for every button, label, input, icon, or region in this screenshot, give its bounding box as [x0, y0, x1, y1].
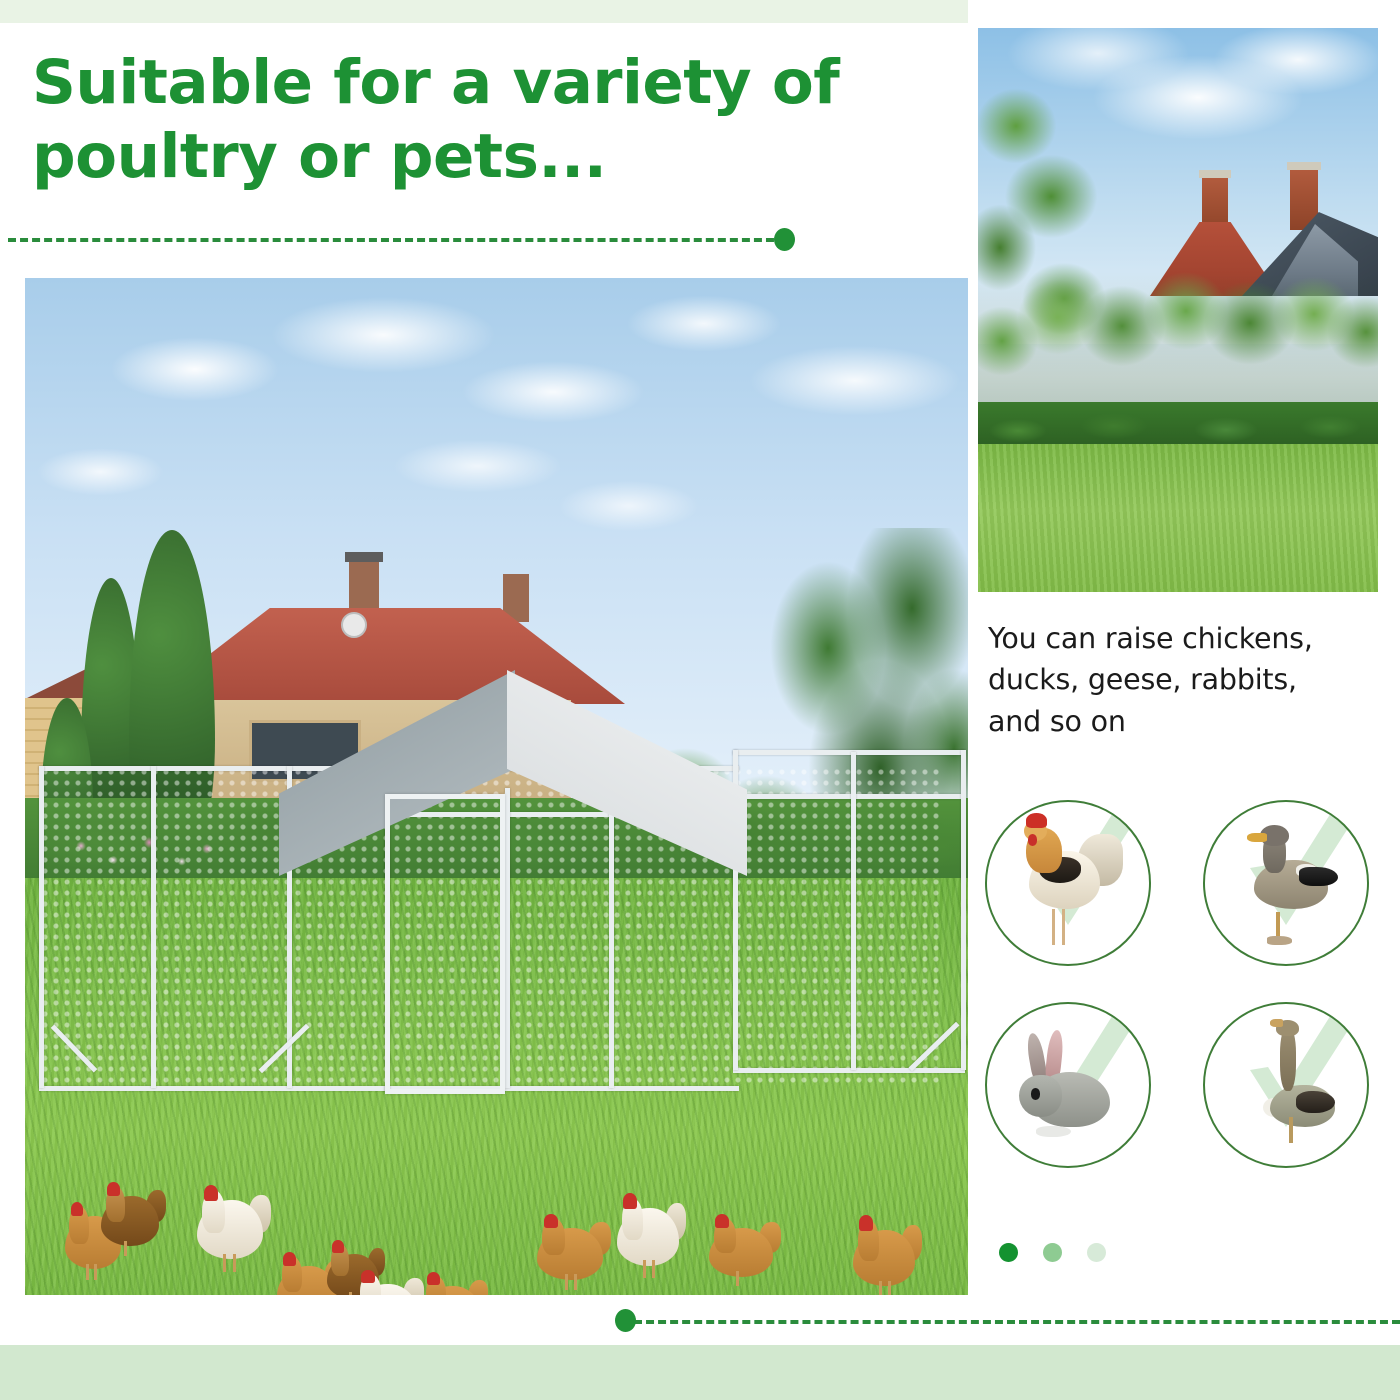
caption-line-1: You can raise chickens, — [988, 618, 1380, 659]
headline-line-1: Suitable for a variety of — [32, 46, 932, 120]
main-product-photo — [25, 278, 968, 1295]
caption-line-2: ducks, geese, rabbits, — [988, 659, 1380, 700]
headline-line-2: poultry or pets... — [32, 120, 932, 194]
top-dashed-divider — [8, 238, 786, 242]
chicken — [101, 1186, 159, 1256]
suitable-animals-grid — [985, 800, 1385, 1200]
chicken — [355, 1274, 417, 1295]
bottom-accent-band — [0, 1345, 1400, 1400]
animal-icon-cell-duck[interactable] — [1203, 800, 1369, 966]
goose-icon — [1205, 1004, 1367, 1166]
icon-circle-border — [985, 800, 1151, 966]
coop-rail-top — [733, 750, 965, 755]
coop-post — [39, 766, 44, 1088]
animal-icon-cell-goose[interactable] — [1203, 1002, 1369, 1168]
animal-icon-cell-rabbit[interactable] — [985, 1002, 1151, 1168]
rabbit-icon — [987, 1004, 1149, 1166]
pagination-dot-3[interactable] — [1087, 1243, 1106, 1262]
duck-icon — [1205, 802, 1367, 964]
caption-text: You can raise chickens, ducks, geese, ra… — [988, 618, 1380, 742]
trimmed-hedge — [978, 402, 1378, 450]
canopy-roof-right-slope — [507, 670, 747, 876]
icon-circle-border — [1203, 800, 1369, 966]
top-divider-dot — [774, 228, 795, 251]
chicken — [421, 1276, 481, 1295]
coop-post — [851, 752, 856, 1070]
page-title: Suitable for a variety of poultry or pet… — [32, 46, 932, 195]
grass-lawn — [978, 444, 1378, 592]
chicken-coop-frame — [33, 708, 963, 1228]
garden-photo — [978, 28, 1378, 592]
chicken — [709, 1218, 773, 1286]
rooster-icon — [987, 802, 1149, 964]
coop-post — [151, 766, 156, 1088]
canopy-roof — [279, 670, 745, 876]
chicken — [197, 1190, 263, 1272]
caption-line-3: and so on — [988, 701, 1380, 742]
chicken — [853, 1220, 915, 1295]
satellite-dish-icon — [341, 612, 367, 638]
coop-door-frame — [385, 794, 505, 1094]
pagination-dot-2[interactable] — [1043, 1243, 1062, 1262]
bottom-divider-dot — [615, 1309, 636, 1332]
bottom-dashed-divider — [634, 1320, 1400, 1324]
top-accent-band — [0, 0, 968, 23]
icon-circle-border — [1203, 1002, 1369, 1168]
icon-circle-border — [985, 1002, 1151, 1168]
coop-rail-mid — [733, 794, 965, 799]
chicken — [617, 1198, 679, 1278]
coop-rail-bottom — [733, 1068, 965, 1073]
tree-line — [978, 272, 1378, 422]
pagination-dot-1[interactable] — [999, 1243, 1018, 1262]
pagination-dots[interactable] — [999, 1243, 1106, 1262]
coop-post — [961, 750, 966, 1070]
chicken — [537, 1218, 603, 1290]
animal-icon-cell-rooster[interactable] — [985, 800, 1151, 966]
